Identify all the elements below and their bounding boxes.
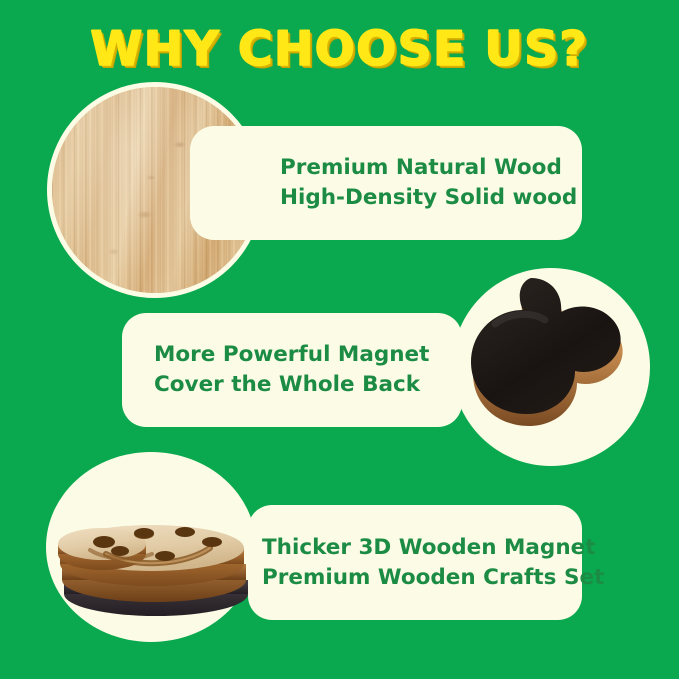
layered-wooden-disc-image [44,510,260,620]
feature-line-2: High-Density Solid wood [280,183,582,213]
feature-line-2: Premium Wooden Crafts Set [262,563,582,593]
feature-panel-powerful-magnet: More Powerful Magnet Cover the Whole Bac… [122,313,462,427]
feature-line-1: Thicker 3D Wooden Magnet [262,533,582,563]
feature-line-2: Cover the Whole Back [154,370,462,400]
feature-panel-thick-3d-magnet: Thicker 3D Wooden Magnet Premium Wooden … [248,505,582,620]
black-bunny-magnet-image [455,272,647,454]
page-title: WHY CHOOSE US? [0,22,679,77]
feature-line-1: Premium Natural Wood [280,153,582,183]
feature-panel-premium-wood: Premium Natural Wood High-Density Solid … [190,126,582,240]
why-choose-us-poster: WHY CHOOSE US? Premium Natural Wood High… [0,0,679,679]
feature-line-1: More Powerful Magnet [154,340,462,370]
